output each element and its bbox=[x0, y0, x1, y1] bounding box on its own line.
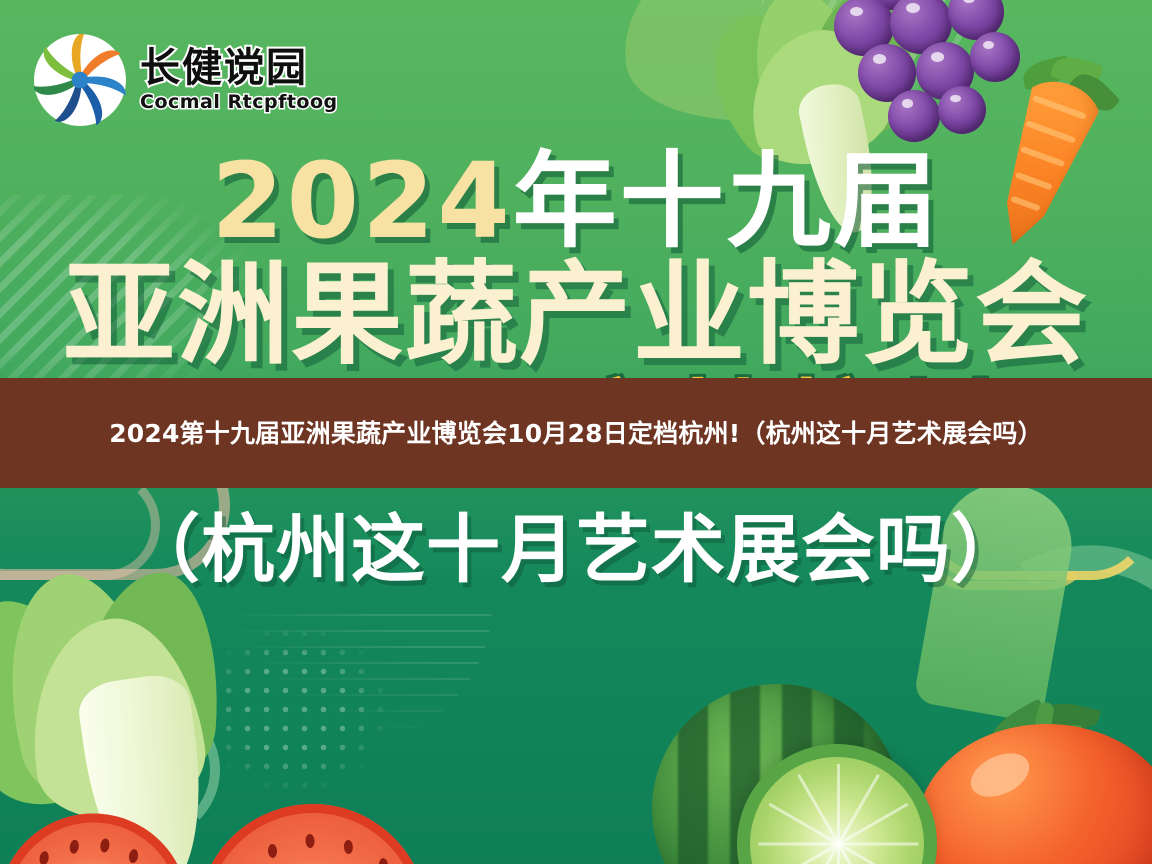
headline-line-2: 亚洲果蔬产业博览会 bbox=[0, 258, 1152, 372]
headline-line-4: （杭州这十月艺术展会吗） bbox=[0, 512, 1152, 590]
brand-name-pinyin: Cocmal Rtcpftoog bbox=[140, 93, 338, 112]
brand-logo: 长健谠园 Cocmal Rtcpftoog bbox=[34, 34, 338, 126]
headline-edition: 年十九届 bbox=[513, 140, 941, 262]
headline-line-1: 2024年十九届 bbox=[0, 148, 1152, 254]
tomato-slice-illustration bbox=[192, 798, 428, 864]
caption-text: 2024第十九届亚洲果蔬产业博览会10月28日定档杭州!（杭州这十月艺术展会吗） bbox=[109, 415, 1043, 452]
swirl-logo-icon bbox=[34, 34, 126, 126]
headline-year: 2024 bbox=[211, 140, 512, 262]
tomato-illustration bbox=[917, 694, 1152, 864]
poster-canvas: 2024年十九届 亚洲果蔬产业博览会 10月28日定档杭州！ （杭州这十月艺术展… bbox=[0, 0, 1152, 864]
caption-overlay-band: 2024第十九届亚洲果蔬产业博览会10月28日定档杭州!（杭州这十月艺术展会吗） bbox=[0, 378, 1152, 488]
brand-name-cn: 长健谠园 bbox=[140, 48, 338, 88]
brand-logo-text: 长健谠园 Cocmal Rtcpftoog bbox=[140, 48, 338, 112]
